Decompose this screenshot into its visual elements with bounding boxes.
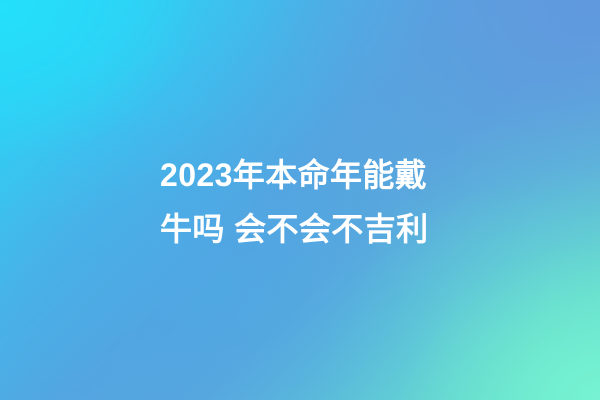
- gradient-banner: 2023年本命年能戴 牛吗 会不会不吉利: [0, 0, 600, 400]
- banner-title-line-1: 2023年本命年能戴: [160, 148, 460, 202]
- banner-title-line-2: 牛吗 会不会不吉利: [160, 202, 460, 256]
- banner-title: 2023年本命年能戴 牛吗 会不会不吉利: [160, 148, 460, 256]
